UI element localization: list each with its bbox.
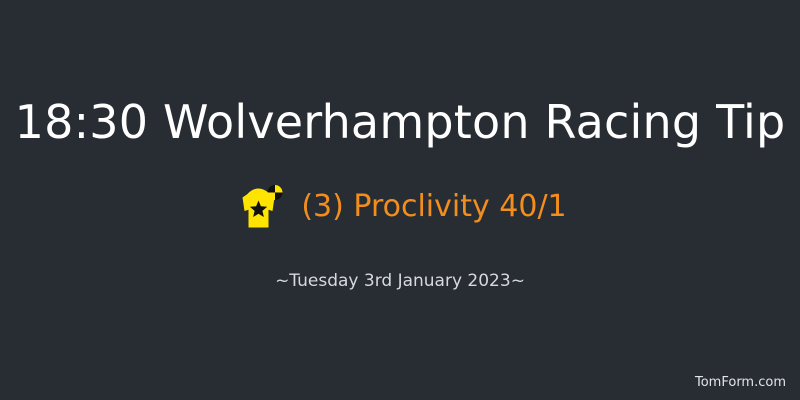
- selection-row: (3) Proclivity 40/1: [0, 182, 800, 232]
- racing-tip-card: 18:30 Wolverhampton Racing Tip (3) Procl…: [0, 0, 800, 400]
- page-title: 18:30 Wolverhampton Racing Tip: [0, 93, 800, 151]
- race-date: ~Tuesday 3rd January 2023~: [0, 270, 800, 292]
- jockey-silks-icon: [233, 182, 285, 232]
- silks-body-icon: [243, 189, 275, 228]
- footer-brand: TomForm.com: [695, 374, 786, 392]
- selection-label: (3) Proclivity 40/1: [301, 187, 566, 227]
